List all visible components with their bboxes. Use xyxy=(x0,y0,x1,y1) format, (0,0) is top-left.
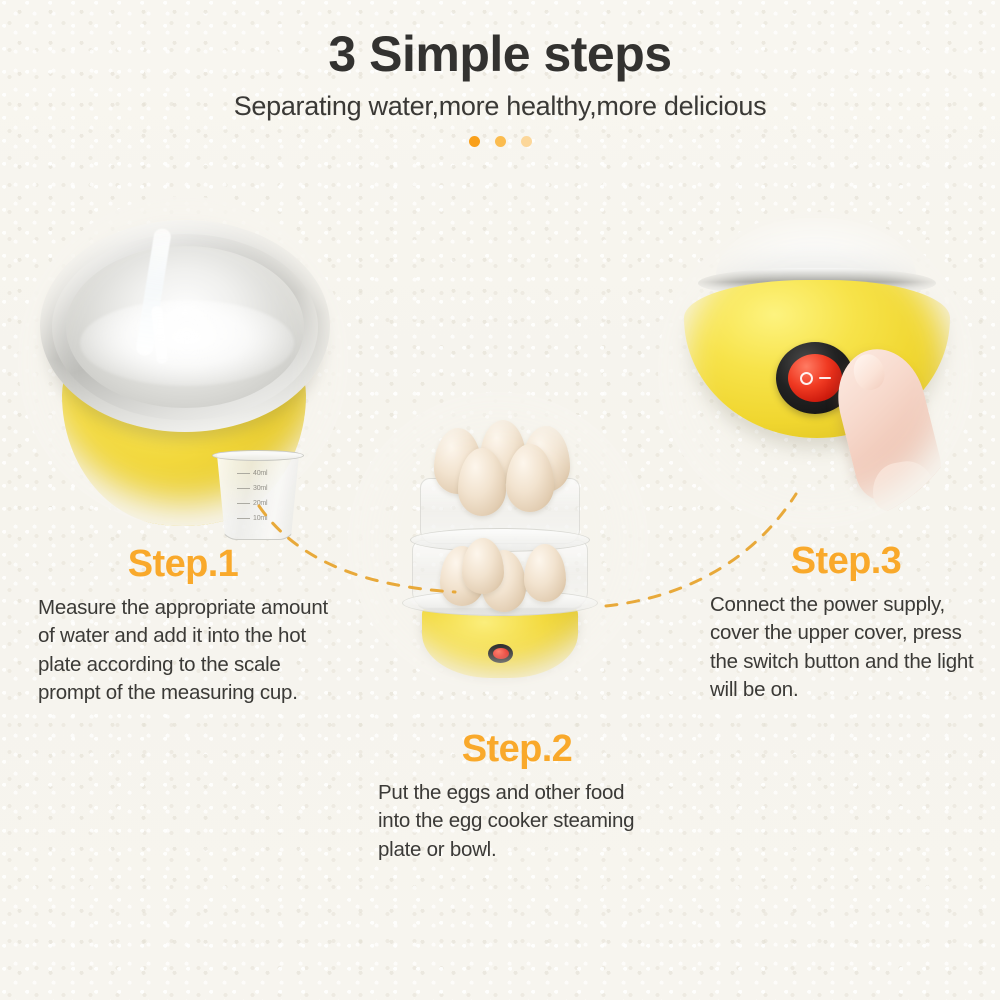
step-3-photo xyxy=(658,212,974,528)
dot-1-icon xyxy=(469,136,480,147)
scale-mark: 30ml xyxy=(237,481,295,496)
step-3-heading: Step.3 xyxy=(710,542,982,580)
power-on-symbol-icon xyxy=(819,377,831,380)
tick-line-icon xyxy=(237,503,250,505)
header: 3 Simple steps Separating water,more hea… xyxy=(0,26,1000,147)
tick-line-icon xyxy=(237,488,250,490)
measuring-cup-scale: 40ml 30ml 20ml 10ml xyxy=(237,466,295,526)
water-splash xyxy=(80,300,294,386)
measuring-cup-lip xyxy=(212,450,304,461)
step-2-heading: Step.2 xyxy=(378,730,656,768)
step-2-photo xyxy=(348,392,648,692)
scale-label: 30ml xyxy=(253,485,267,492)
page-subtitle: Separating water,more healthy,more delic… xyxy=(0,91,1000,122)
steaming-tray-upper xyxy=(410,528,590,552)
page-title: 3 Simple steps xyxy=(0,26,1000,82)
step-3-body: Connect the power supply, cover the uppe… xyxy=(710,591,982,704)
scale-label: 20ml xyxy=(253,500,267,507)
power-rocker-switch xyxy=(488,644,513,663)
dot-2-icon xyxy=(495,136,506,147)
tick-line-icon xyxy=(237,473,250,475)
scale-label: 40ml xyxy=(253,470,267,477)
power-off-symbol-icon xyxy=(800,372,813,385)
step-2-caption: Step.2 Put the eggs and other food into … xyxy=(378,730,656,864)
scale-mark: 20ml xyxy=(237,496,295,511)
tick-line-icon xyxy=(237,518,250,520)
dot-indicators xyxy=(0,136,1000,147)
switch-red-face xyxy=(493,648,509,659)
step-3-caption: Step.3 Connect the power supply, cover t… xyxy=(710,542,982,704)
step-1-heading: Step.1 xyxy=(38,545,328,583)
step-2-body: Put the eggs and other food into the egg… xyxy=(378,779,656,864)
scale-label: 10ml xyxy=(253,515,267,522)
measuring-cup: 40ml 30ml 20ml 10ml xyxy=(215,452,301,540)
scale-mark: 40ml xyxy=(237,466,295,481)
step-1-body: Measure the appropriate amount of water … xyxy=(38,594,328,707)
infographic-page: 3 Simple steps Separating water,more hea… xyxy=(0,0,1000,1000)
scale-mark: 10ml xyxy=(237,511,295,526)
step-1-caption: Step.1 Measure the appropriate amount of… xyxy=(38,545,328,707)
dot-3-icon xyxy=(521,136,532,147)
switch-red-face xyxy=(788,354,842,402)
